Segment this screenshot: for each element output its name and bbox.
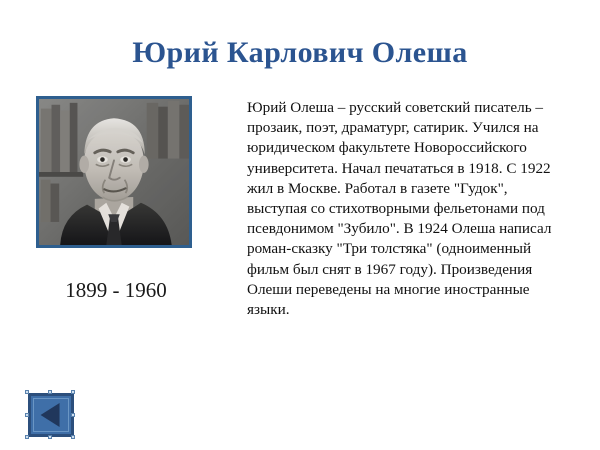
triangle-left-icon: [41, 403, 60, 427]
back-button[interactable]: [28, 393, 74, 437]
presentation-slide: Юрий Карлович Олеша: [0, 0, 600, 450]
life-dates: 1899 - 1960: [36, 278, 196, 302]
selection-handle-bottom-right[interactable]: [71, 435, 75, 439]
portrait-illustration: [39, 99, 189, 245]
biography-text: Юрий Олеша – русский советский писатель …: [247, 98, 564, 320]
selection-handle-bottom-left[interactable]: [25, 435, 29, 439]
selection-handle-middle-right[interactable]: [71, 413, 75, 417]
selection-handle-top-right[interactable]: [71, 390, 75, 394]
selection-handle-top-left[interactable]: [25, 390, 29, 394]
page-title: Юрий Карлович Олеша: [0, 36, 600, 70]
selection-handle-bottom-center[interactable]: [48, 435, 52, 439]
selection-handle-middle-left[interactable]: [25, 413, 29, 417]
portrait-photo: [36, 96, 192, 248]
selection-handle-top-center[interactable]: [48, 390, 52, 394]
